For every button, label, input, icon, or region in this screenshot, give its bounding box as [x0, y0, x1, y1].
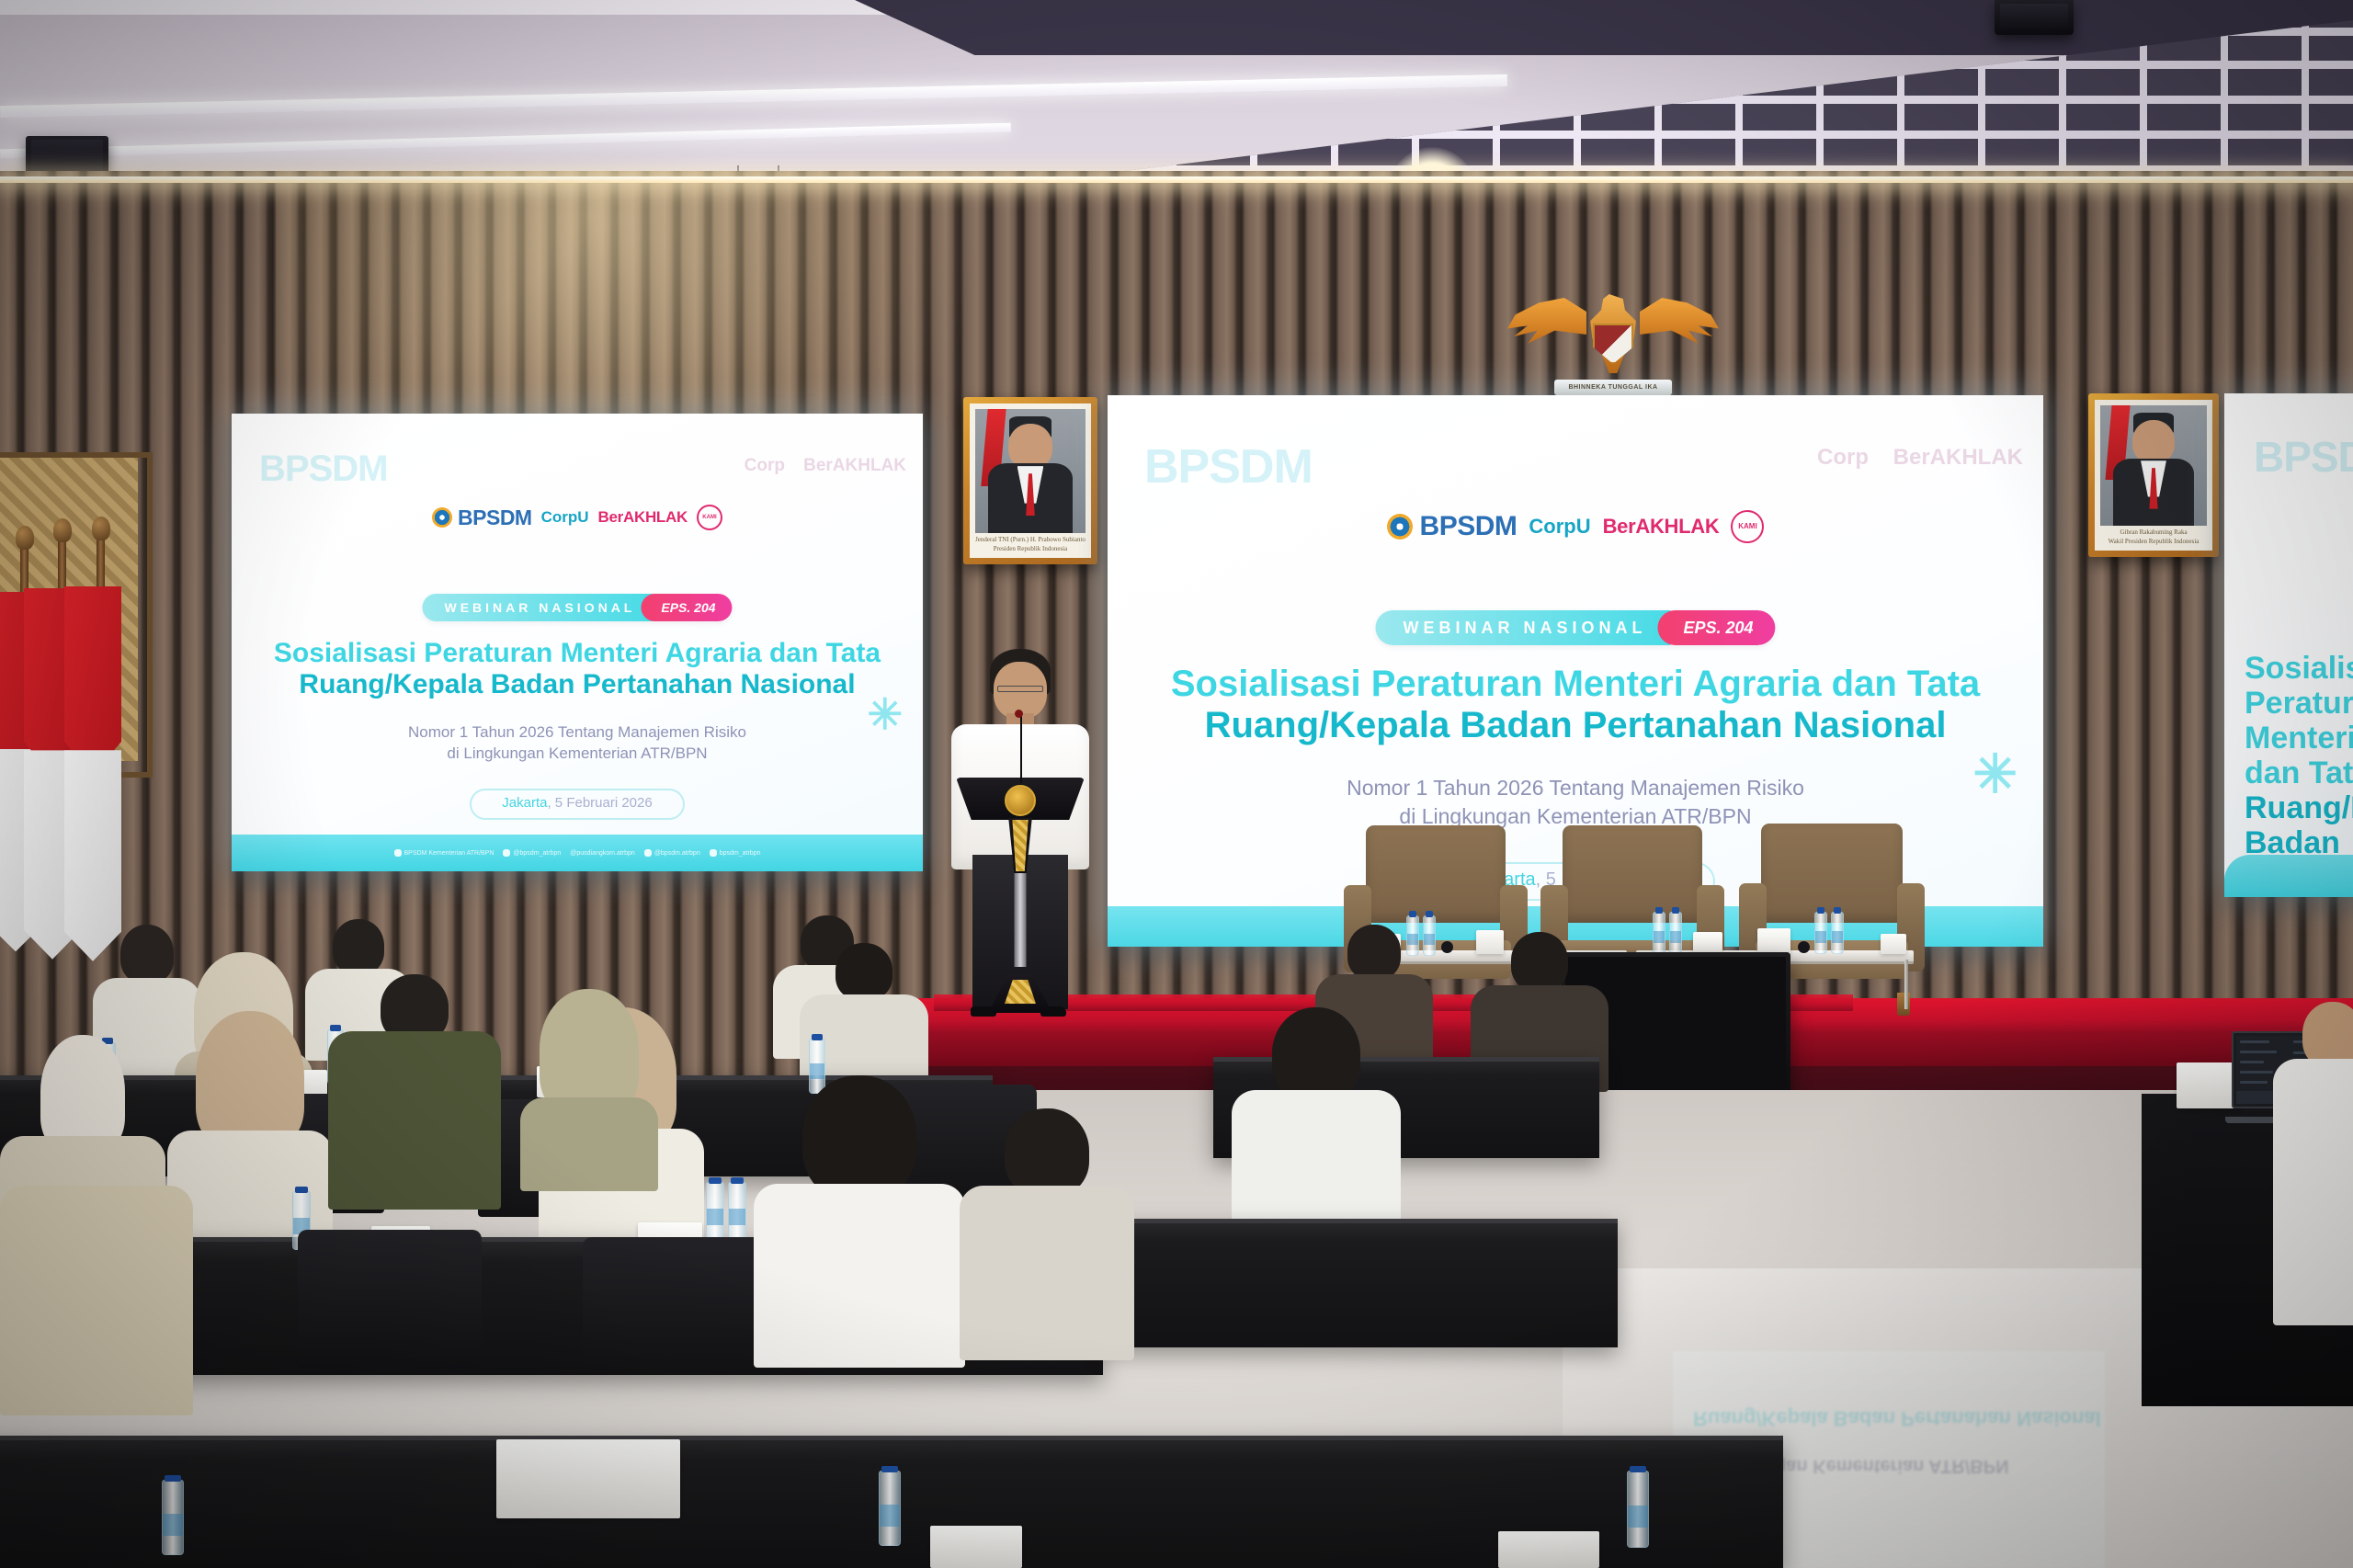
water-bottle	[706, 1182, 724, 1241]
garuda-pancasila-emblem: BHINNEKA TUNGGAL IKA	[1507, 292, 1719, 395]
slide-watermark-left: BPSDM	[259, 449, 387, 490]
atr-bpn-globe-logo	[1387, 514, 1413, 540]
wall-led-strip	[0, 176, 2353, 183]
slide-watermark-berakhlak: BerAKHLAK	[803, 456, 906, 476]
pancasila-shield	[1593, 324, 1633, 364]
microphone	[1441, 941, 1453, 953]
water-bottle	[1814, 912, 1827, 954]
garuda-motto-ribbon: BHINNEKA TUNGGAL IKA	[1554, 380, 1672, 395]
water-bottle	[1831, 912, 1844, 954]
footer-handle: @pusdiangkom.atrbpn	[570, 850, 635, 857]
slide-subtitle: Nomor 1 Tahun 2026 Tentang Manajemen Ris…	[243, 722, 912, 765]
audience-person	[754, 1075, 965, 1351]
water-bottle	[162, 1480, 184, 1555]
footer-handle: bpsdm_atrbpn	[710, 849, 761, 857]
berakhlak-logo: BerAKHLAK	[1603, 515, 1720, 539]
operator-person	[2278, 1002, 2353, 1314]
water-bottle	[728, 1182, 746, 1241]
slide-subtitle: Nomor 1 Tahun 2026 Tentang Manajemen Ris…	[1117, 774, 2034, 831]
footer-handle: BPSDM Kementerian ATR/BPN	[394, 849, 494, 857]
water-bottle	[1669, 912, 1682, 954]
slide-date-badge: Jakarta, 5 Februari 2026	[470, 789, 685, 820]
portrait-caption: Jenderal TNI (Purn.) H. Prabowo Subianto…	[975, 532, 1086, 559]
sparkle-icon: ✳	[1972, 743, 2018, 805]
atr-bpn-globe-logo	[432, 507, 452, 528]
garuda-wing-left	[1507, 298, 1586, 347]
audience-chair	[298, 1230, 482, 1368]
audience-table	[1103, 1219, 1618, 1347]
microphone	[1798, 941, 1810, 953]
badge-left-label: WEBINAR NASIONAL	[1375, 610, 1670, 645]
tissue-box	[1881, 934, 1906, 954]
audience-chair	[583, 1237, 772, 1373]
slide-logo-row: BPSDM CorpU BerAKHLAK KAMI	[232, 502, 923, 533]
audience-person	[520, 989, 658, 1173]
audience-person	[960, 1108, 1134, 1357]
name-card	[930, 1526, 1022, 1568]
footer-handle: @bpsdm_atrbpn	[503, 849, 561, 857]
portrait-photo	[2100, 405, 2207, 526]
footer-handle: @bpsdm.atrbpn	[644, 849, 700, 857]
reflection-title: Ruang/Kepala Badan Pertanahan Nasional	[1693, 1406, 2101, 1430]
flag-finial	[16, 526, 34, 550]
corpu-logo: CorpU	[1529, 515, 1590, 539]
slide-watermark-left: BPSDM	[2254, 432, 2353, 482]
audience-person	[1232, 1007, 1401, 1237]
kami-bangga-logo: KAMI	[697, 505, 722, 530]
tissue-box	[2177, 1062, 2239, 1108]
flag-finial	[92, 517, 110, 540]
microphone-head	[1015, 710, 1023, 718]
ministry-seal-icon	[1005, 785, 1036, 816]
badge-right-label: EPS. 204	[1657, 610, 1775, 645]
ceiling-speaker	[1995, 0, 2074, 35]
badge-left-label: WEBINAR NASIONAL	[422, 594, 654, 621]
badge-right-label: EPS. 204	[641, 594, 732, 621]
left-projection-screen[interactable]: BPSDM Corp BerAKHLAK BPSDM CorpU BerAKHL…	[232, 414, 923, 871]
garuda-wing-right	[1640, 298, 1719, 347]
water-bottle	[1653, 912, 1665, 954]
vice-president-portrait: Gibran Rakabuming RakaWakil Presiden Rep…	[2088, 393, 2219, 557]
portrait-caption: Gibran Rakabuming RakaWakil Presiden Rep…	[2100, 525, 2207, 551]
slide-watermark-left: BPSDM	[1144, 439, 1313, 494]
slide-webinar-badge: WEBINAR NASIONAL EPS. 204	[422, 594, 732, 621]
sparkle-icon: ✳	[867, 689, 903, 739]
slide-watermark-corp: Corp	[1817, 445, 1869, 471]
slide-title: Sosialisasi Peraturan Menteri Agraria da…	[243, 638, 912, 699]
conference-hall-photo: The Sound of Art BHINNEKA TUNGGAL IKA Je…	[0, 0, 2353, 1568]
audience-person	[0, 1186, 193, 1425]
ceiling-recess	[855, 0, 2353, 55]
slide-watermark-berakhlak: BerAKHLAK	[1893, 445, 2023, 471]
president-portrait: Jenderal TNI (Purn.) H. Prabowo Subianto…	[963, 397, 1097, 564]
portrait-photo	[975, 409, 1086, 533]
berakhlak-logo: BerAKHLAK	[598, 508, 688, 527]
slide-webinar-badge: WEBINAR NASIONAL EPS. 204	[1375, 610, 1775, 645]
flag-finial	[53, 518, 72, 542]
tissue-box	[1757, 928, 1790, 954]
podium-stem	[1015, 873, 1027, 967]
water-bottle	[1627, 1471, 1649, 1548]
name-card	[1498, 1531, 1599, 1568]
audience-person	[327, 974, 502, 1204]
slide-logo-row: BPSDM CorpU BerAKHLAK KAMI	[1108, 507, 2043, 546]
slide-footer-bar: BPSDM Kementerian ATR/BPN @bpsdm_atrbpn …	[232, 835, 923, 871]
indonesian-flag	[64, 586, 121, 950]
slide-title: Sosialisasi Peraturan Menteri Agraria da…	[1117, 664, 2034, 746]
right-projection-screen[interactable]: BPSDM Sosialisasi Peraturan Menteri Agra…	[2224, 393, 2353, 897]
water-bottle	[879, 1471, 901, 1546]
podium-microphone	[1020, 715, 1022, 783]
speaker-glasses	[997, 686, 1043, 692]
slide-watermark-corp: Corp	[745, 456, 785, 476]
tissue-box	[496, 1439, 680, 1518]
podium	[956, 778, 1085, 1013]
bpsdm-logo: BPSDM	[1420, 511, 1518, 542]
tissue-box	[1693, 932, 1722, 954]
slide-footer-bar	[2224, 855, 2353, 897]
kami-bangga-logo: KAMI	[1731, 510, 1764, 543]
bpsdm-logo: BPSDM	[458, 506, 532, 530]
corpu-logo: CorpU	[541, 508, 589, 527]
